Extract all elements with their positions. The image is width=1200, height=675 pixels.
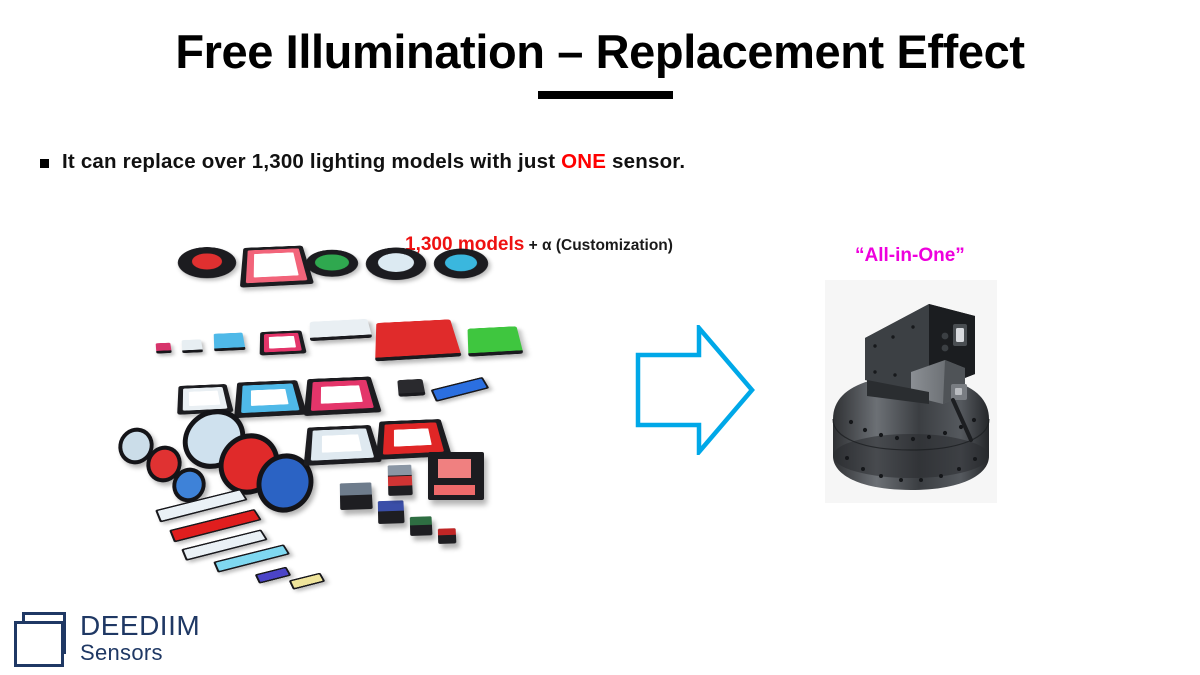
coax-light-green: [410, 516, 433, 536]
panel-light-white-bar: [310, 319, 373, 341]
bullet-text-before: It can replace over 1,300 lighting model…: [62, 150, 561, 173]
logo-company-name: DEEDIIM: [80, 612, 200, 640]
box-light-red-open: [428, 452, 484, 500]
slide-canvas: Free Illumination – Replacement Effect I…: [0, 0, 1200, 675]
coax-light-gray: [340, 482, 373, 510]
square-bullet-icon: [40, 159, 49, 168]
title-underline-rule: [538, 91, 673, 99]
flat-panel-light-green: [468, 326, 524, 357]
logo-square-front: [14, 621, 64, 667]
company-logo: DEEDIIM Sensors: [14, 612, 200, 664]
bar-light-yellow-small: [289, 573, 326, 590]
bullet-accent-one: ONE: [561, 150, 606, 173]
controller-box-small: [397, 379, 425, 397]
bar-light-blue-small: [431, 377, 490, 402]
bullet-text-after: sensor.: [606, 150, 685, 173]
cube-light-white-xs: [182, 339, 203, 353]
ring-light-blue: [431, 249, 491, 279]
ring-light-red: [175, 247, 240, 278]
all-in-one-caption: “All-in-One”: [855, 245, 965, 267]
lighting-models-collage: [110, 228, 550, 588]
square-ring-light-pink-s: [260, 330, 307, 355]
right-arrow-icon: [635, 325, 755, 455]
logo-company-sub: Sensors: [80, 642, 200, 664]
page-title: Free Illumination – Replacement Effect: [0, 24, 1200, 79]
ring-light-green: [303, 250, 360, 277]
logo-text: DEEDIIM Sensors: [80, 612, 200, 664]
deediim-logo-mark-icon: [14, 612, 70, 664]
bullet-text: It can replace over 1,300 lighting model…: [62, 150, 685, 174]
coax-light-blue: [378, 500, 405, 524]
ring-light-white: [362, 248, 430, 281]
square-ring-light-cyan: [234, 380, 307, 418]
coax-light-tall: [388, 465, 413, 496]
bar-light-violet-small: [255, 567, 292, 584]
all-in-one-sensor-image: [825, 280, 997, 503]
frame-light-white: [304, 425, 382, 466]
coax-light-red: [438, 528, 457, 544]
bullet-row: It can replace over 1,300 lighting model…: [40, 150, 685, 174]
flat-panel-light-red: [375, 319, 462, 361]
ring-light-square-pink: [240, 246, 314, 288]
cube-light-cyan-s: [214, 333, 246, 352]
square-ring-light-magenta: [304, 377, 382, 417]
sensor-illustration: [825, 280, 997, 503]
cube-light-magenta-xs: [156, 343, 172, 354]
